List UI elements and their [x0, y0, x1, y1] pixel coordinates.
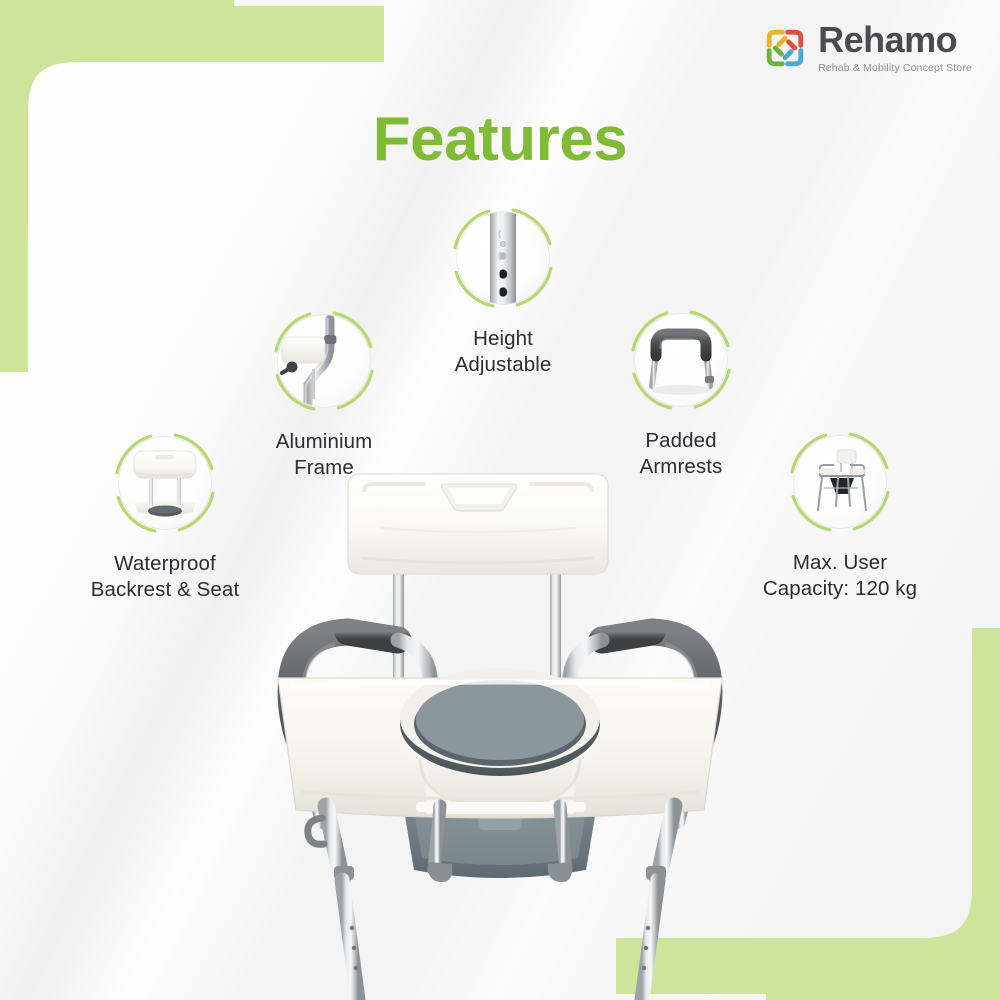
padded-armrest-icon: [635, 314, 727, 406]
feature-badge: [269, 306, 379, 416]
frame-joint-icon: [278, 315, 370, 407]
feature-badge: [110, 428, 220, 538]
feature-badge: [785, 427, 895, 537]
feature-label-line1: Aluminium: [209, 429, 439, 455]
backrest-seat-icon: [119, 437, 211, 529]
brand-name: Rehamo: [818, 22, 972, 58]
feature-badge: [626, 305, 736, 415]
brand-logo[interactable]: Rehamo Rehab & Mobility Concept Store: [763, 22, 972, 74]
feature-badge: [448, 203, 558, 313]
product-image-commode-chair: [230, 462, 770, 1000]
page-title: Features: [0, 104, 1000, 175]
brand-logo-text: Rehamo Rehab & Mobility Concept Store: [818, 22, 972, 74]
commode-chair-icon: [794, 436, 886, 528]
infographic-canvas: Rehamo Rehab & Mobility Concept Store Fe…: [0, 0, 1000, 1000]
pinwheel-logo-icon: [763, 26, 807, 70]
brand-tagline: Rehab & Mobility Concept Store: [818, 63, 972, 74]
adjustable-tube-icon: [457, 212, 549, 304]
